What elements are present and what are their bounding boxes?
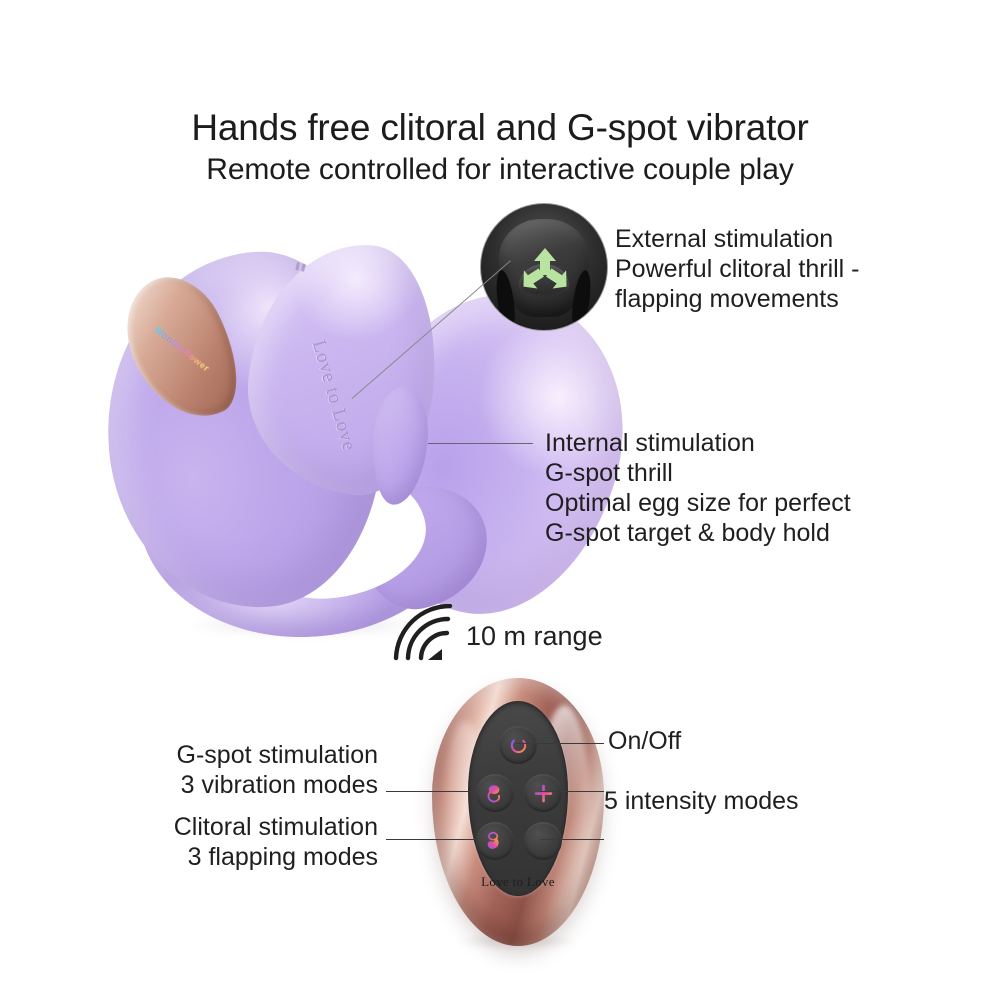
leader-line-clitoral	[386, 839, 476, 840]
flapping-mode-icon	[484, 830, 507, 853]
leader-line-gspot	[386, 791, 476, 792]
brand-accent-text: Wonderflower	[153, 324, 212, 373]
charging-contacts-icon	[295, 262, 305, 272]
leader-line-intensity	[540, 791, 604, 792]
remote-brand-label: Love to Love	[432, 874, 604, 890]
callout-clitoral-modes: Clitoral stimulation 3 flapping modes	[150, 812, 378, 872]
leader-line-on-off	[516, 743, 604, 744]
leader-line-flapping	[540, 839, 604, 840]
page-title: Hands free clitoral and G-spot vibrator	[0, 108, 1000, 147]
power-icon	[508, 735, 529, 756]
external-stimulation-detail-view	[480, 203, 608, 331]
remote-power-button[interactable]	[499, 726, 537, 764]
wifi-range-icon	[392, 604, 464, 664]
remote-decrease-intensity-button[interactable]	[524, 822, 562, 860]
callout-gspot-modes: G-spot stimulation 3 vibration modes	[150, 740, 378, 800]
callout-range: 10 m range	[466, 621, 603, 651]
vibration-mode-icon	[484, 782, 507, 805]
remote-vibration-mode-button[interactable]	[476, 774, 514, 812]
plus-icon	[533, 783, 554, 804]
remote-increase-intensity-button[interactable]	[524, 774, 562, 812]
infographic-canvas: Hands free clitoral and G-spot vibrator …	[0, 0, 1000, 1000]
remote-flapping-mode-button[interactable]	[476, 822, 514, 860]
leader-line-internal	[428, 443, 533, 444]
minus-icon	[533, 831, 554, 852]
callout-on-off: On/Off	[608, 726, 681, 756]
remote-control[interactable]: Love to Love	[432, 678, 604, 946]
callout-internal-stimulation: Internal stimulation G-spot thrill Optim…	[545, 428, 851, 548]
callout-intensity-modes: 5 intensity modes	[604, 786, 799, 816]
page-subtitle: Remote controlled for interactive couple…	[0, 154, 1000, 186]
callout-external-stimulation: External stimulation Powerful clitoral t…	[615, 224, 860, 314]
